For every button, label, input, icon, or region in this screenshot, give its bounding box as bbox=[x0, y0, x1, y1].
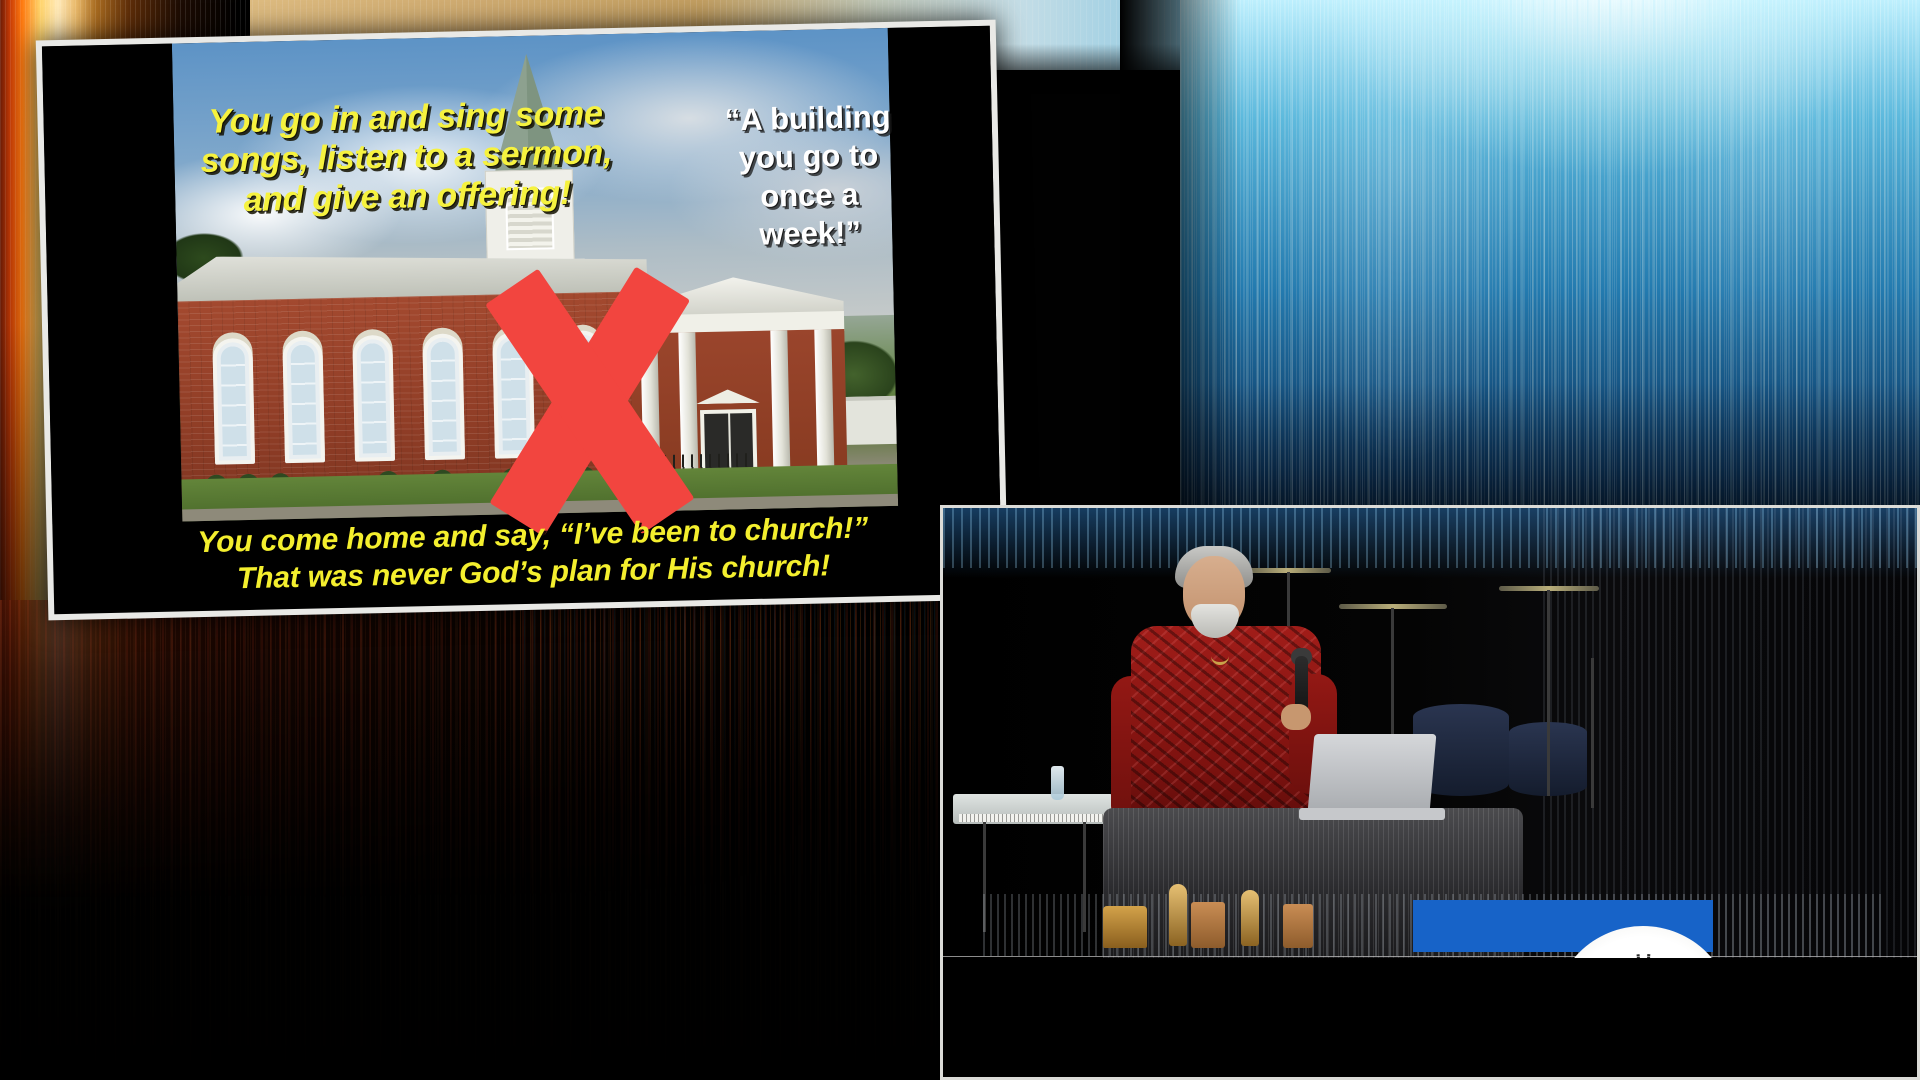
arched-window bbox=[422, 333, 465, 460]
slide-border: You go in and sing some songs, listen to… bbox=[36, 20, 1008, 621]
slide-letterbox-left bbox=[42, 44, 182, 525]
stage-floor-shadow bbox=[943, 958, 1917, 1077]
arched-window bbox=[352, 335, 395, 462]
trophy-case bbox=[1103, 906, 1147, 948]
slide-text-left: You go in and sing some songs, listen to… bbox=[195, 94, 617, 221]
slide-caption: You come home and say, “I’ve been to chu… bbox=[52, 507, 1002, 601]
trophy bbox=[1169, 884, 1187, 946]
award-plaque bbox=[1191, 902, 1225, 948]
water-bottle bbox=[1051, 766, 1064, 800]
video-inset-canvas bbox=[943, 508, 1917, 1077]
speaker-right-hand bbox=[1281, 704, 1311, 730]
red-x-mark bbox=[462, 260, 718, 543]
cymbal-stand bbox=[1547, 590, 1550, 796]
video-inset-border bbox=[940, 505, 1920, 1080]
speaker-necklace bbox=[1211, 636, 1229, 665]
arched-window bbox=[282, 336, 325, 463]
arched-window bbox=[212, 338, 255, 465]
laptop-base bbox=[1299, 808, 1445, 820]
stage-edge-line bbox=[943, 956, 1917, 957]
speaker-video-inset bbox=[940, 505, 1920, 1080]
presentation-slide: You go in and sing some songs, listen to… bbox=[36, 20, 1008, 621]
slide-text-right: “A building you go to once a week!” bbox=[707, 98, 910, 256]
keyboard-keys bbox=[959, 814, 1107, 822]
mic-stand bbox=[1591, 658, 1594, 808]
trophy bbox=[1241, 890, 1259, 946]
slide-canvas: You go in and sing some songs, listen to… bbox=[42, 26, 1002, 615]
screen-capture: You go in and sing some songs, listen to… bbox=[0, 0, 1920, 1080]
laptop-screen bbox=[1308, 734, 1437, 812]
award-plaque bbox=[1283, 904, 1313, 948]
background-blue-shimmer bbox=[1180, 0, 1920, 560]
